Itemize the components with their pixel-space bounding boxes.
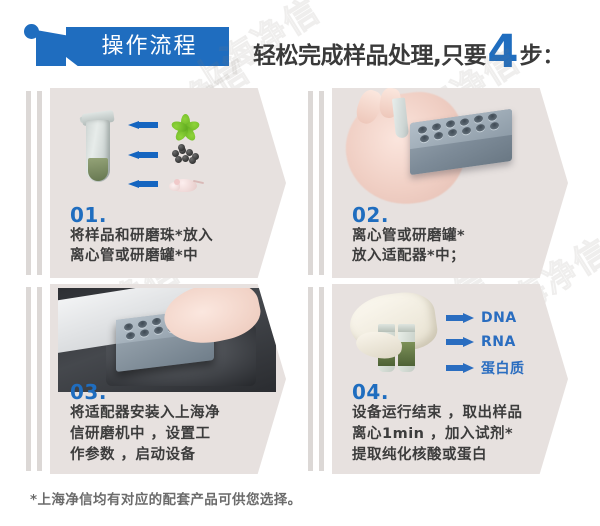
output-row-dna: DNA: [446, 310, 517, 326]
tag-wedge-shape: [36, 30, 70, 66]
footer-note: *上海净信均有对应的配套产品可供您选择。: [30, 488, 302, 508]
arrow-left-icon: [128, 180, 158, 189]
output-row-rna: RNA: [446, 334, 516, 350]
output-label: 蛋白质: [481, 358, 525, 378]
headline-step-count: 4: [487, 34, 518, 70]
step-text-line: 提取纯化核酸或蛋白: [352, 445, 523, 466]
steps-grid: 01. 将样品和研磨珠*放入 离心管或研磨罐*中: [0, 88, 600, 480]
mouse-icon: [169, 174, 201, 194]
accent-bar: [26, 287, 31, 471]
step-card-3: 03. 将适配器安装入上海净 信研磨机中 ，设置工 作参数 ，启动设备: [50, 284, 286, 474]
accent-bar: [37, 287, 42, 471]
accent-bar: [308, 91, 313, 275]
step-text-line: 离心管或研磨罐*: [352, 226, 465, 246]
beads-icon: [170, 144, 200, 166]
leaf-icon: [172, 112, 198, 138]
output-label: DNA: [481, 310, 517, 326]
step-cell-3: 03. 将适配器安装入上海净 信研磨机中 ，设置工 作参数 ，启动设备: [26, 284, 311, 474]
step-card-4: DNA RNA 蛋白质 04. 设备运行结束 ，取出样品 离心1min ，加入试…: [332, 284, 568, 474]
step-text-3: 将适配器安装入上海净 信研磨机中 ，设置工 作参数 ，启动设备: [70, 403, 220, 466]
output-row-protein: 蛋白质: [446, 358, 525, 378]
accent-bar: [308, 287, 313, 471]
headline: 轻松完成样品处理,只要 4 步 ：: [253, 30, 565, 74]
input-row-mouse: [128, 174, 201, 194]
step-number-4: 04.: [352, 380, 389, 404]
step-text-line: 将样品和研磨珠*放入: [70, 226, 213, 246]
page-header: 操作流程 轻松完成样品处理,只要 4 步 ：: [0, 0, 600, 88]
step-number-1: 01.: [70, 203, 107, 227]
step-text-line: 信研磨机中 ，设置工: [70, 424, 220, 445]
step-text-line: 作参数 ，启动设备: [70, 445, 220, 466]
input-row-beads: [128, 144, 200, 166]
centrifuge-tube-illustration: [80, 106, 116, 196]
headline-text-after: 步: [520, 36, 543, 70]
step-number-3: 03.: [70, 380, 107, 404]
step-cell-2: 02. 离心管或研磨罐* 放入适配器*中；: [308, 88, 593, 278]
step-text-line: 设备运行结束 ，取出样品: [352, 403, 523, 424]
section-tag: 操作流程: [66, 27, 229, 66]
step-text-line: 将适配器安装入上海净: [70, 403, 220, 424]
accent-bar: [319, 91, 324, 275]
accent-bar: [26, 91, 31, 275]
arrow-right-icon: [446, 364, 474, 372]
step-text-line: 离心1min ，加入试剂*: [352, 424, 523, 445]
headline-text-before: 轻松完成样品处理,只要: [253, 36, 486, 70]
headline-colon: ：: [543, 40, 565, 70]
arrow-left-icon: [128, 151, 158, 160]
section-tag-label: 操作流程: [97, 36, 197, 58]
step-card-1: 01. 将样品和研磨珠*放入 离心管或研磨罐*中: [50, 88, 286, 278]
step-card-2: 02. 离心管或研磨罐* 放入适配器*中；: [332, 88, 568, 278]
step-cell-4: DNA RNA 蛋白质 04. 设备运行结束 ，取出样品 离心1min ，加入试…: [308, 284, 593, 474]
tag-notch-shape: [66, 57, 79, 67]
arrow-right-icon: [446, 338, 474, 346]
arrow-left-icon: [128, 121, 158, 130]
step-text-line: 放入适配器*中；: [352, 246, 465, 266]
step-cell-1: 01. 将样品和研磨珠*放入 离心管或研磨罐*中: [26, 88, 311, 278]
step-number-2: 02.: [352, 203, 389, 227]
step-text-1: 将样品和研磨珠*放入 离心管或研磨罐*中: [70, 226, 213, 266]
arrow-right-icon: [446, 314, 474, 322]
output-label: RNA: [481, 334, 516, 350]
accent-bar: [37, 91, 42, 275]
grinder-machine-photo: [58, 288, 276, 392]
step-text-2: 离心管或研磨罐* 放入适配器*中；: [352, 226, 465, 266]
input-row-plant: [128, 112, 198, 138]
step-text-line: 离心管或研磨罐*中: [70, 246, 213, 266]
step-text-4: 设备运行结束 ，取出样品 离心1min ，加入试剂* 提取纯化核酸或蛋白: [352, 403, 523, 466]
accent-bar: [319, 287, 324, 471]
